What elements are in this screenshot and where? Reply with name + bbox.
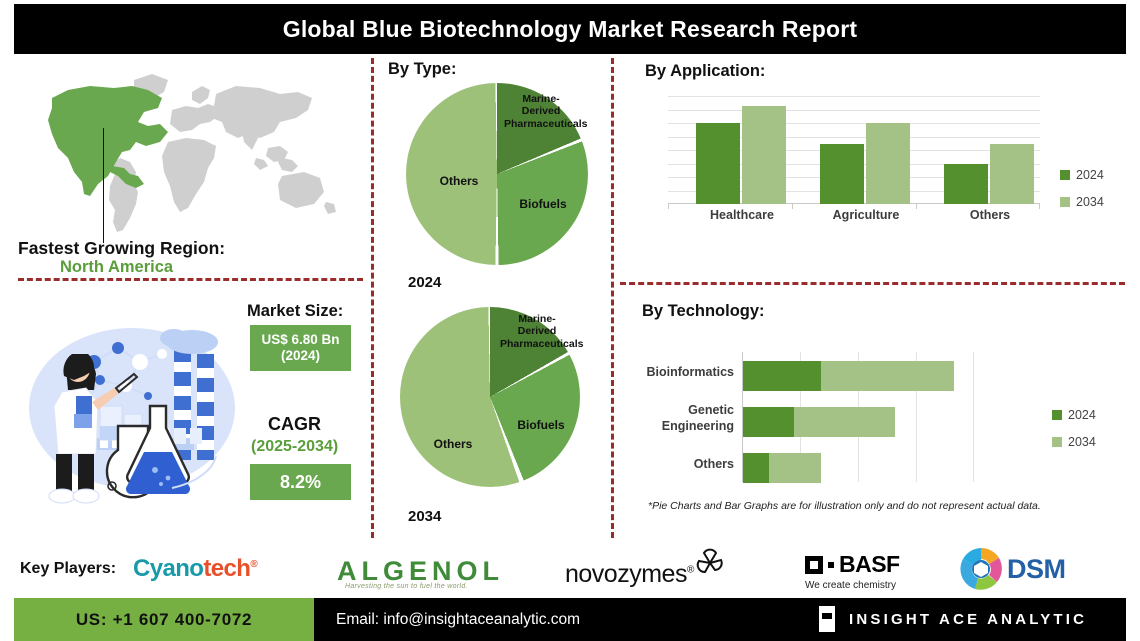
stacked-bar-genetic-engineering bbox=[743, 407, 895, 437]
cagr-value-box: 8.2% bbox=[250, 464, 351, 500]
brand-name: INSIGHT ACE ANALYTIC bbox=[849, 611, 1087, 628]
cyanotech-part1: Cyano bbox=[133, 555, 203, 582]
divider-horizontal-left bbox=[18, 278, 363, 281]
novozymes-text: novozymes bbox=[565, 560, 687, 588]
legend-label-2024: 2024 bbox=[1076, 168, 1104, 182]
legend-swatch-2034 bbox=[1060, 197, 1070, 207]
legend-item-2034: 2034 bbox=[1060, 195, 1104, 209]
market-size-label: Market Size: bbox=[247, 302, 343, 321]
fastest-growing-region-label: Fastest Growing Region: bbox=[18, 238, 225, 259]
logo-algenol-tagline: Harvesting the sun to fuel the world. bbox=[345, 583, 468, 590]
logo-cyanotech: Cyanotech® bbox=[133, 555, 257, 583]
column-group-healthcare bbox=[696, 96, 788, 204]
cagr-value: 8.2% bbox=[280, 472, 321, 493]
phone-bar: US: +1 607 400-7072 bbox=[14, 598, 314, 641]
logo-novozymes: novozymes® bbox=[565, 560, 694, 589]
segment-genetic-engineering-2024 bbox=[743, 407, 794, 437]
stacked-bar-bioinformatics bbox=[743, 361, 954, 391]
pie-2024-year: 2024 bbox=[408, 274, 441, 291]
basf-square-icon bbox=[805, 556, 823, 574]
world-map-icon bbox=[16, 62, 364, 237]
legend-item-2024: 2024 bbox=[1060, 168, 1104, 182]
cagr-years: (2025-2034) bbox=[251, 438, 338, 456]
pie-2034-label-marine: Marine-Derived Pharmaceuticals bbox=[500, 313, 574, 350]
segment-bioinformatics-2024 bbox=[743, 361, 821, 391]
map-leader-line bbox=[103, 128, 104, 243]
pie-2024-label-biofuels: Biofuels bbox=[512, 197, 574, 211]
divider-vertical-right bbox=[611, 58, 614, 538]
column-group-others bbox=[944, 96, 1036, 204]
application-column-chart: Healthcare Agriculture Others bbox=[668, 96, 1040, 204]
by-technology-title: By Technology: bbox=[642, 302, 765, 321]
page-header: Global Blue Biotechnology Market Researc… bbox=[14, 4, 1126, 54]
bar-others-2024 bbox=[944, 164, 988, 205]
legend-label-tech-2024: 2024 bbox=[1068, 408, 1096, 422]
brand-logo: INSIGHT ACE ANALYTIC bbox=[819, 606, 1087, 632]
legend-swatch-2024 bbox=[1060, 170, 1070, 180]
market-size-value-box: US$ 6.80 Bn (2024) bbox=[250, 325, 351, 371]
by-type-title: By Type: bbox=[388, 60, 456, 79]
bar-agriculture-2034 bbox=[866, 123, 910, 204]
row-label-others: Others bbox=[620, 457, 734, 473]
bar-agriculture-2024 bbox=[820, 144, 864, 205]
phone-number: US: +1 607 400-7072 bbox=[76, 610, 252, 630]
legend-item-tech-2034: 2034 bbox=[1052, 435, 1096, 449]
basf-tagline: We create chemistry bbox=[805, 580, 900, 591]
category-label-healthcare: Healthcare bbox=[686, 208, 798, 222]
legend-item-tech-2024: 2024 bbox=[1052, 408, 1096, 422]
legend-swatch-tech-2034 bbox=[1052, 437, 1062, 447]
pie-2034-label-others: Others bbox=[422, 437, 484, 451]
bar-healthcare-2024 bbox=[696, 123, 740, 204]
dsm-text: DSM bbox=[1007, 554, 1066, 585]
legend-label-tech-2034: 2034 bbox=[1068, 435, 1096, 449]
disclaimer-note: *Pie Charts and Bar Graphs are for illus… bbox=[648, 500, 1041, 512]
cyanotech-part2: tech bbox=[203, 555, 250, 582]
market-size-value: US$ 6.80 Bn bbox=[261, 332, 339, 348]
stacked-bar-others bbox=[743, 453, 821, 483]
email-address: Email: info@insightaceanalytic.com bbox=[336, 611, 580, 629]
bar-others-2034 bbox=[990, 144, 1034, 205]
column-group-agriculture bbox=[820, 96, 912, 204]
row-label-genetic-engineering: Genetic Engineering bbox=[620, 403, 734, 434]
cyanotech-registered-mark: ® bbox=[250, 559, 257, 570]
basf-text: BASF bbox=[839, 551, 900, 578]
legend-label-2034: 2034 bbox=[1076, 195, 1104, 209]
logo-basf: BASF We create chemistry bbox=[805, 551, 900, 591]
segment-bioinformatics-2034 bbox=[821, 361, 954, 391]
basf-dot-icon bbox=[828, 562, 834, 568]
pie-2024-label-others: Others bbox=[428, 174, 490, 188]
application-chart-legend: 2024 2034 bbox=[1060, 168, 1104, 222]
page-title: Global Blue Biotechnology Market Researc… bbox=[283, 16, 858, 43]
technology-chart-legend: 2024 2034 bbox=[1052, 408, 1096, 462]
segment-genetic-engineering-2034 bbox=[794, 407, 895, 437]
scientist-lab-illustration-icon bbox=[22, 310, 237, 505]
by-application-title: By Application: bbox=[645, 62, 765, 81]
pie-2034-label-biofuels: Biofuels bbox=[510, 418, 572, 432]
contact-bar: Email: info@insightaceanalytic.com INSIG… bbox=[314, 598, 1126, 641]
divider-vertical-left bbox=[371, 58, 374, 538]
key-players-label: Key Players: bbox=[20, 560, 116, 578]
legend-swatch-tech-2024 bbox=[1052, 410, 1062, 420]
brand-mark-icon bbox=[819, 606, 835, 632]
logo-dsm: DSM bbox=[957, 545, 1066, 593]
category-label-agriculture: Agriculture bbox=[810, 208, 922, 222]
novozymes-propeller-icon bbox=[693, 546, 727, 580]
category-label-others: Others bbox=[934, 208, 1046, 222]
pie-2034-year: 2034 bbox=[408, 508, 441, 525]
fastest-growing-region-value: North America bbox=[60, 258, 173, 277]
segment-others-2034 bbox=[769, 453, 821, 483]
row-label-bioinformatics: Bioinformatics bbox=[620, 365, 734, 381]
segment-others-2024 bbox=[743, 453, 769, 483]
cagr-label: CAGR bbox=[268, 414, 321, 435]
divider-horizontal-right bbox=[620, 282, 1125, 285]
technology-bar-chart bbox=[742, 352, 974, 482]
market-size-year: (2024) bbox=[281, 348, 320, 364]
bar-healthcare-2034 bbox=[742, 106, 786, 205]
dsm-swirl-icon bbox=[957, 545, 1005, 593]
infographic-page: Global Blue Biotechnology Market Researc… bbox=[0, 0, 1140, 641]
pie-2024-label-marine: Marine-Derived Pharmaceuticals bbox=[504, 93, 578, 130]
